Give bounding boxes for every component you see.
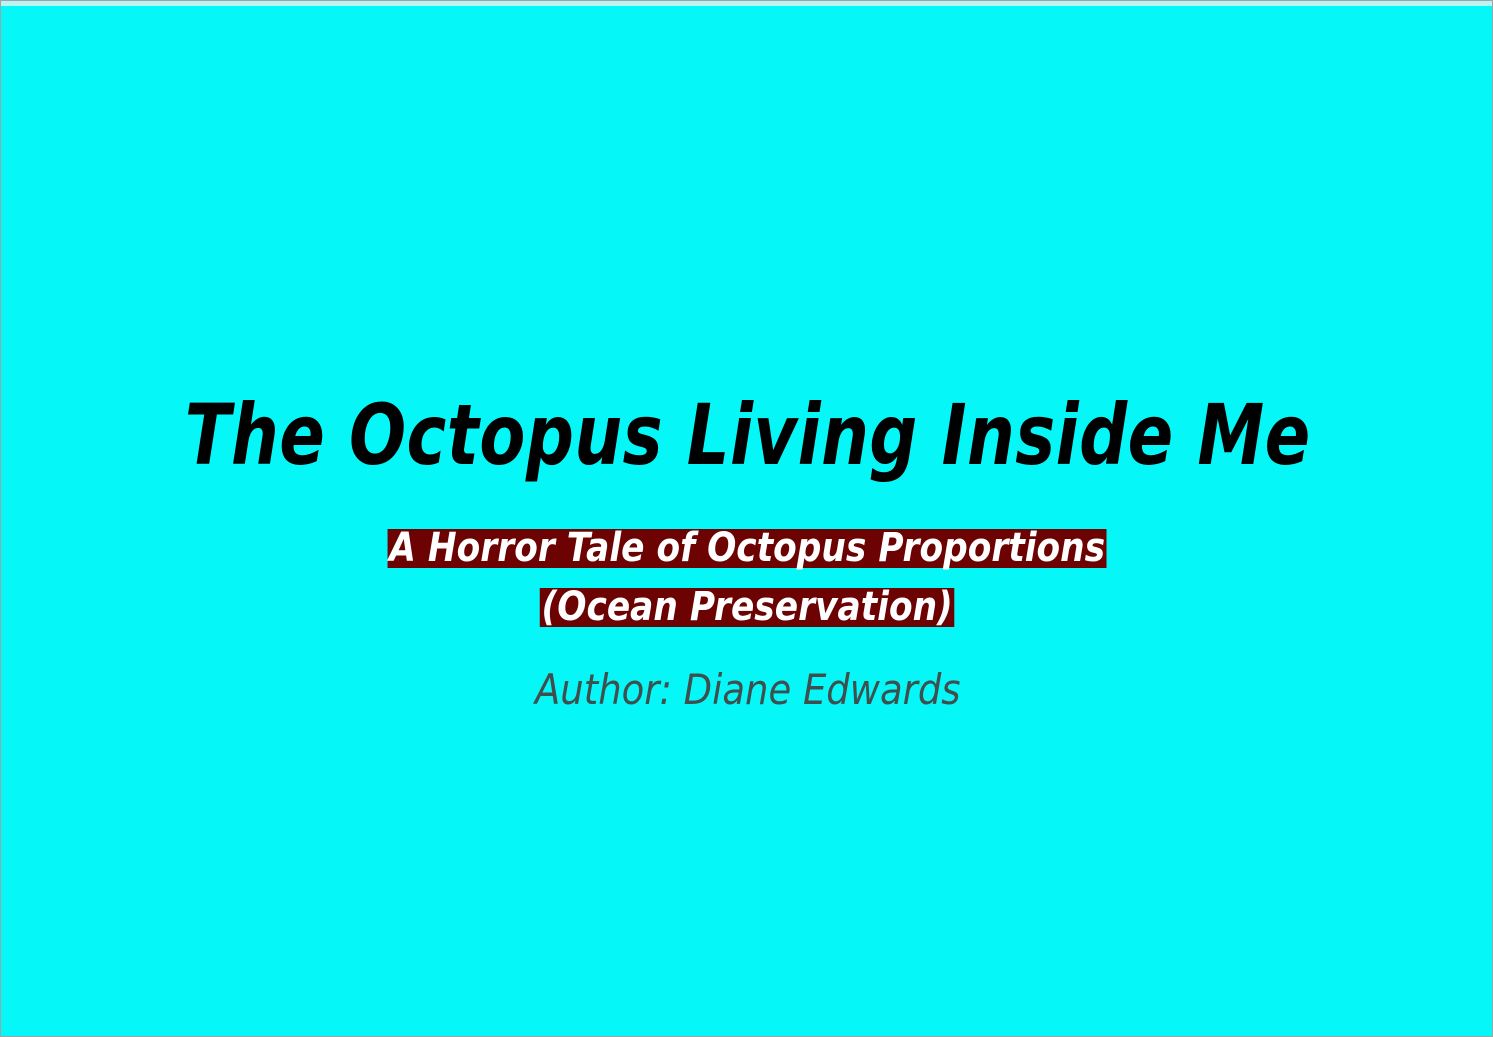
subtitle-line: A Horror Tale of Octopus Proportions xyxy=(1,529,1493,579)
slide-subtitle-block: A Horror Tale of Octopus Proportions (Oc… xyxy=(1,529,1493,638)
subtitle-line-1-highlight: A Horror Tale of Octopus Proportions xyxy=(388,529,1107,568)
slide-title-block: The Octopus Living Inside Me xyxy=(1,393,1493,479)
slide-author-block: Author: Diane Edwards xyxy=(1,665,1493,714)
subtitle-line: (Ocean Preservation) xyxy=(1,588,1493,638)
page-title: The Octopus Living Inside Me xyxy=(185,393,1311,479)
slide-top-edge-band xyxy=(1,1,1492,6)
subtitle-line-2-highlight: (Ocean Preservation) xyxy=(540,588,955,627)
title-slide: The Octopus Living Inside Me A Horror Ta… xyxy=(0,0,1493,1037)
author-byline: Author: Diane Edwards xyxy=(535,665,961,714)
